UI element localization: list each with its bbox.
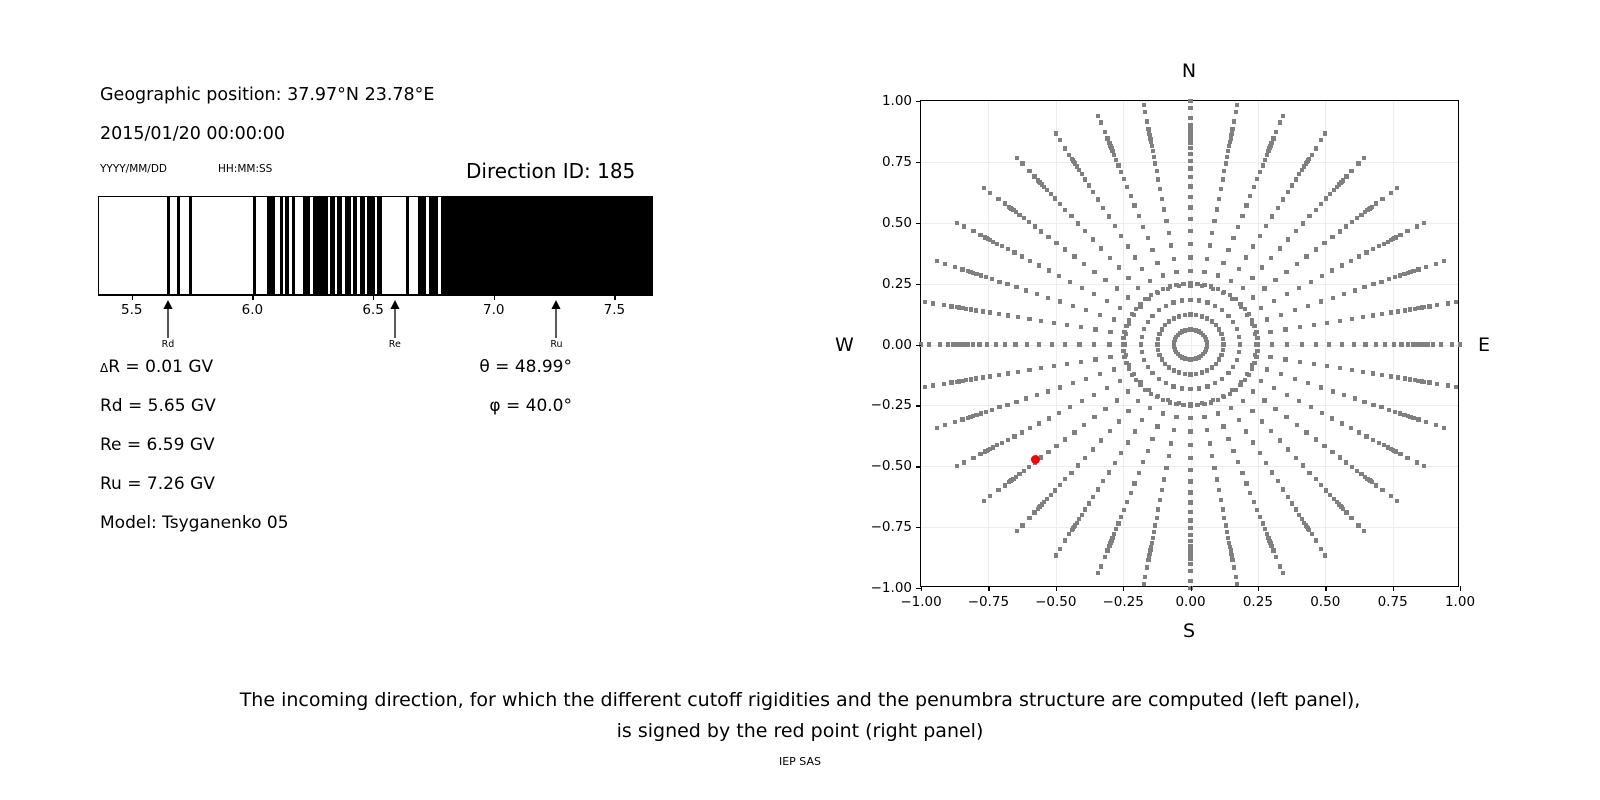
direction-point [1320,274,1324,278]
y-axis-tick [916,223,921,224]
direction-point [1256,342,1260,346]
direction-point [984,275,988,279]
direction-point [997,312,1001,316]
direction-point [1052,364,1056,368]
direction-point [1188,500,1192,504]
direction-point [1383,342,1387,346]
direction-point [1216,287,1220,291]
direction-point [1158,187,1162,191]
direction-point [1007,480,1011,484]
direction-point [1115,286,1119,290]
direction-point [1057,274,1061,278]
direction-point [1103,555,1107,559]
direction-point [1082,262,1086,266]
y-axis-tick [916,527,921,528]
direction-point [1237,350,1241,354]
direction-point [1272,386,1276,390]
compass-label-north: N [1182,60,1196,82]
direction-point [943,423,947,427]
direction-point [1379,405,1383,409]
param-re: Re = 6.59 GV [100,435,215,455]
direction-point [1143,110,1147,114]
direction-point [1306,381,1310,385]
direction-point [935,426,939,430]
direction-point [1028,426,1032,430]
direction-point [1164,466,1168,470]
direction-point [1235,103,1239,107]
direction-point [1377,244,1381,248]
direction-point [1356,161,1360,165]
direction-point [1137,471,1141,475]
param-phi: φ = 40.0° [489,396,572,416]
direction-point [1054,444,1058,448]
direction-point [1036,178,1040,182]
direction-point [1083,507,1087,511]
direction-point [1188,175,1192,179]
direction-point [996,197,1000,201]
direction-point [1356,523,1360,527]
direction-point [1319,385,1323,389]
direction-point [1077,342,1081,346]
penumbra-band [303,197,310,294]
compass-label-south: S [1183,620,1195,642]
direction-point [1065,362,1069,366]
y-axis-tick-label: −0.50 [871,458,912,474]
direction-point [1133,255,1137,259]
direction-point [1188,152,1192,156]
direction-point [1431,342,1435,346]
y-axis-tick-label: 0.25 [882,276,912,292]
direction-point [1188,562,1192,566]
direction-point [1092,342,1096,346]
direction-point [1286,237,1290,241]
direction-point [1174,283,1178,287]
direction-point [1143,297,1147,301]
direction-point [1080,399,1084,403]
x-axis-tick [1325,586,1326,591]
direction-point [1164,219,1168,223]
direction-point [1063,146,1067,150]
direction-point [1188,242,1192,246]
direction-point [1328,192,1332,196]
direction-point [1096,487,1100,491]
direction-point [1220,308,1224,312]
direction-point [1312,323,1316,327]
direction-point [1216,411,1220,415]
direction-point [1118,306,1122,310]
direction-point [994,342,998,346]
direction-point [1158,498,1162,502]
direction-point [1047,416,1051,420]
direction-point [1188,490,1192,494]
direction-point [1155,424,1159,428]
direction-point [1098,313,1102,317]
x-axis-tick-label: −1.00 [900,594,941,610]
direction-point [1314,342,1318,346]
direction-point [1132,481,1136,485]
direction-point [1132,203,1136,207]
x-axis-tick-label: −0.50 [1035,594,1076,610]
penumbra-structure-bar [98,196,653,295]
direction-point [1188,510,1192,514]
direction-point [1099,564,1103,568]
penumbra-band [253,197,256,294]
direction-point [969,307,973,311]
direction-point [1058,547,1062,551]
direction-point [1126,276,1130,280]
direction-point [1058,299,1062,303]
direction-point [1263,527,1267,531]
x-axis-tick-label: 0.50 [1310,594,1340,610]
direction-point [1155,342,1159,346]
direction-point [1068,280,1072,284]
direction-point [1005,403,1009,407]
direction-point [1454,300,1458,304]
direction-point [1188,146,1192,150]
direction-point [1371,282,1375,286]
direction-point [1150,248,1154,252]
penumbra-band [429,197,438,294]
x-axis-tick [1056,586,1057,591]
direction-point [1005,282,1009,286]
direction-point [1188,518,1192,522]
direction-point [1240,214,1244,218]
rigidity-axis-tick [614,295,615,300]
direction-point [1083,229,1087,233]
direction-point [1039,366,1043,370]
direction-point [1353,288,1357,292]
direction-point [1213,304,1217,308]
direction-point [1188,269,1192,273]
direction-point [1205,316,1209,320]
direction-point [1422,380,1426,384]
direction-point [943,262,947,266]
direction-point [1208,441,1212,445]
direction-point [1250,276,1254,280]
direction-point [1006,247,1010,251]
direction-point [1380,488,1384,492]
direction-point [1273,407,1277,411]
direction-point [1250,409,1254,413]
direction-point [1371,313,1375,317]
direction-point [1155,516,1159,520]
direction-point [1350,465,1354,469]
param-rd: Rd = 5.65 GV [100,396,216,416]
direction-point [1251,389,1255,393]
direction-point [1350,220,1354,224]
direction-point [1107,470,1111,474]
direction-point [1210,454,1214,458]
direction-point [1177,314,1181,318]
direction-point [1374,342,1378,346]
direction-point [1236,460,1240,464]
direction-point [1262,286,1266,290]
direction-scatter-plot: −1.00−0.75−0.50−0.250.000.250.500.751.00… [920,100,1459,587]
direction-point [1092,270,1096,274]
direction-point [1174,402,1178,406]
direction-point [1129,194,1133,198]
direction-point [1393,275,1397,279]
direction-point [1252,500,1256,504]
direction-point [1371,371,1375,375]
direction-point [1279,372,1283,376]
direction-point [1357,254,1361,258]
direction-point [1124,361,1128,365]
direction-point [1300,342,1304,346]
direction-point [1364,250,1368,254]
direction-point [1230,558,1234,562]
direction-point [1244,203,1248,207]
direction-point [1007,205,1011,209]
direction-point [1027,516,1031,520]
direction-point [1265,153,1269,157]
direction-point [1281,197,1285,201]
penumbra-band [267,197,275,294]
direction-point [1118,379,1122,383]
direction-point [1181,403,1185,407]
direction-point [1205,257,1209,261]
rigidity-axis-tick [373,295,374,300]
direction-point [1363,342,1367,346]
direction-point [1171,384,1175,388]
direction-point [1269,429,1273,433]
direction-point [1087,183,1091,187]
direction-point [1003,342,1007,346]
direction-point [1125,500,1129,504]
direction-point [983,449,987,453]
direction-point [1076,463,1080,467]
direction-point [1069,214,1073,218]
direction-point [1188,217,1192,221]
direction-point [1338,366,1342,370]
direction-point [1243,378,1247,382]
direction-point [1352,342,1356,346]
direction-point [1220,377,1224,381]
direction-point [1260,419,1264,423]
direction-point [1160,327,1164,331]
direction-point [1319,138,1323,142]
direction-point [1091,190,1095,194]
direction-point [1024,288,1028,292]
direction-point [1327,342,1331,346]
y-axis-tick-label: 1.00 [882,93,912,109]
direction-point [1446,301,1450,305]
direction-point [1323,131,1327,135]
direction-point [1226,248,1230,252]
direction-point [1234,575,1238,579]
direction-point [1169,243,1173,247]
direction-point [1053,196,1057,200]
y-axis-tick-label: 0.00 [882,337,912,353]
direction-point [1271,548,1275,552]
direction-point [1310,153,1314,157]
direction-point [1244,429,1248,433]
direction-point [1067,153,1071,157]
direction-point [1099,438,1103,442]
direction-point [1188,184,1192,188]
direction-point [1294,177,1298,181]
direction-point [1063,208,1067,212]
direction-point [1295,262,1299,266]
rigidity-axis-tick-label: 7.5 [604,302,625,318]
direction-point [1160,488,1164,492]
direction-point [1219,187,1223,191]
direction-point [1028,259,1032,263]
direction-point [995,443,999,447]
direction-point [1258,451,1262,455]
direction-point [1274,555,1278,559]
direction-point [962,460,966,464]
direction-point [971,342,975,346]
direction-point [1219,353,1223,357]
direction-point [1058,138,1062,142]
direction-point [1298,325,1302,329]
direction-point [923,385,927,389]
direction-point [1205,428,1209,432]
direction-point [1150,314,1154,318]
direction-point [1167,231,1171,235]
direction-point [1049,192,1053,196]
direction-point [1403,376,1407,380]
y-axis-tick-label: 0.75 [882,154,912,170]
direction-point [1101,479,1105,483]
penumbra-band [177,197,180,294]
direction-point [1202,415,1206,419]
direction-point [1319,483,1323,487]
direction-point [942,382,946,386]
direction-point [1411,269,1415,273]
direction-point [1125,185,1129,189]
direction-point [1105,136,1109,140]
direction-point [1151,536,1155,540]
direction-point [990,408,994,412]
direction-point [1149,392,1153,396]
direction-point [1322,241,1326,245]
direction-point [1395,499,1399,503]
direction-point [1027,220,1031,224]
x-axis-tick-label: 1.00 [1445,594,1475,610]
y-axis-tick-label: −1.00 [871,580,912,596]
penumbra-band [418,197,426,294]
direction-point [985,342,989,346]
direction-point [1340,263,1344,267]
selected-direction-point [1031,455,1040,464]
direction-point [1231,236,1235,240]
direction-point [1217,357,1221,361]
direction-point [1015,529,1019,533]
datetime-text: 2015/01/20 00:00:00 [100,124,285,144]
direction-point [1096,571,1100,575]
direction-point [1237,267,1241,271]
direction-point [1304,254,1308,258]
direction-point [1084,377,1088,381]
direction-point [1079,360,1083,364]
direction-point [1268,355,1272,359]
direction-point [1130,373,1134,377]
direction-point [1422,221,1426,225]
penumbra-band [167,197,170,294]
penumbra-band [189,197,192,294]
direction-point [1215,207,1219,211]
direction-point [1399,342,1403,346]
rigidity-axis-tick [252,295,253,300]
direction-point [1349,516,1353,520]
direction-point [1096,197,1100,201]
direction-point [1217,327,1221,331]
direction-point [1236,225,1240,229]
direction-point [1087,501,1091,505]
direction-point [1093,327,1097,331]
direction-point [1025,342,1029,346]
direction-point [949,304,953,308]
y-axis-tick [916,345,921,346]
direction-point [1221,261,1225,265]
penumbra-band [367,197,375,294]
direction-point [1174,270,1178,274]
direction-point [1210,319,1214,323]
param-model: Model: Tsyganenko 05 [100,513,289,533]
direction-point [1270,214,1274,218]
y-axis-tick [916,405,921,406]
direction-point [1147,553,1151,557]
direction-point [1200,370,1204,374]
direction-point [1286,190,1290,194]
direction-point [1202,402,1206,406]
direction-point [1151,149,1155,153]
direction-point [1156,177,1160,181]
direction-point [1286,495,1290,499]
direction-point [1137,214,1141,218]
direction-point [1157,308,1161,312]
x-axis-tick-label: 0.00 [1175,594,1205,610]
direction-point [1117,265,1121,269]
direction-point [1119,170,1123,174]
direction-point [1371,247,1375,251]
direction-point [1197,298,1201,302]
direction-point [988,374,992,378]
direction-point [1122,508,1126,512]
direction-point [1281,571,1285,575]
penumbra-band [337,197,342,294]
direction-point [1307,157,1311,161]
direction-point [1112,367,1116,371]
direction-point [955,221,959,225]
direction-point [1054,241,1058,245]
direction-point [1221,337,1225,341]
direction-point [1153,161,1157,165]
direction-point [1027,317,1031,321]
direction-point [1027,169,1031,173]
direction-point [1293,308,1297,312]
direction-point [1142,358,1146,362]
direction-point [1194,313,1198,317]
direction-point [1115,398,1119,402]
direction-point [1195,403,1199,407]
x-axis-tick [988,586,989,591]
direction-point [1000,244,1004,248]
direction-point [1143,575,1147,579]
direction-point [1121,336,1125,340]
direction-point [1188,579,1192,583]
direction-point [935,259,939,263]
direction-point [1349,426,1353,430]
direction-point [1194,372,1198,376]
direction-point [1225,530,1229,534]
direction-point [1126,244,1130,248]
direction-point [1251,295,1255,299]
direction-point [1141,460,1145,464]
direction-point [1188,281,1192,285]
